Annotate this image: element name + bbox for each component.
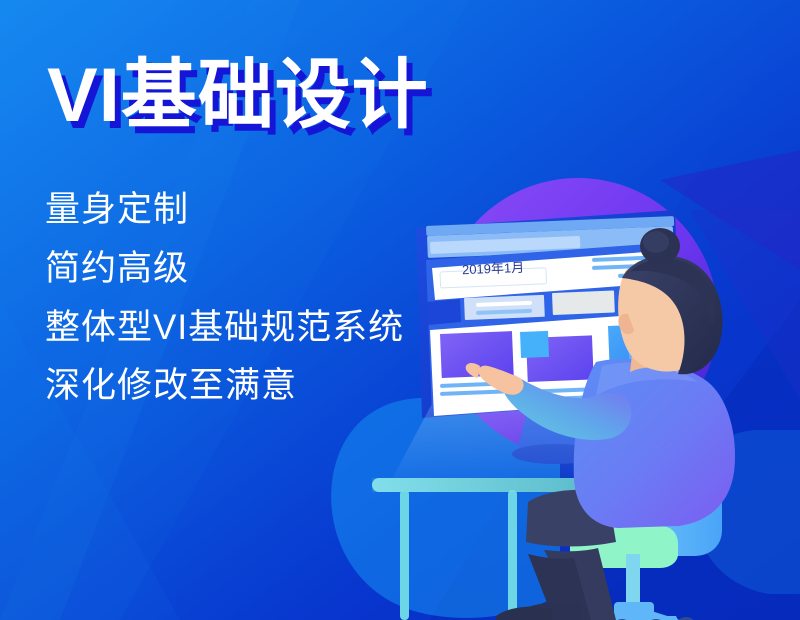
page-title: VI基础设计 — [47, 58, 429, 134]
designer-at-desk-illustration — [330, 150, 800, 620]
poster-root: VI基础设计 量身定制 简约高级 整体型VI基础规范系统 深化修改至满意 — [0, 0, 800, 620]
screen-date-field: 2019年1月 — [462, 257, 525, 278]
